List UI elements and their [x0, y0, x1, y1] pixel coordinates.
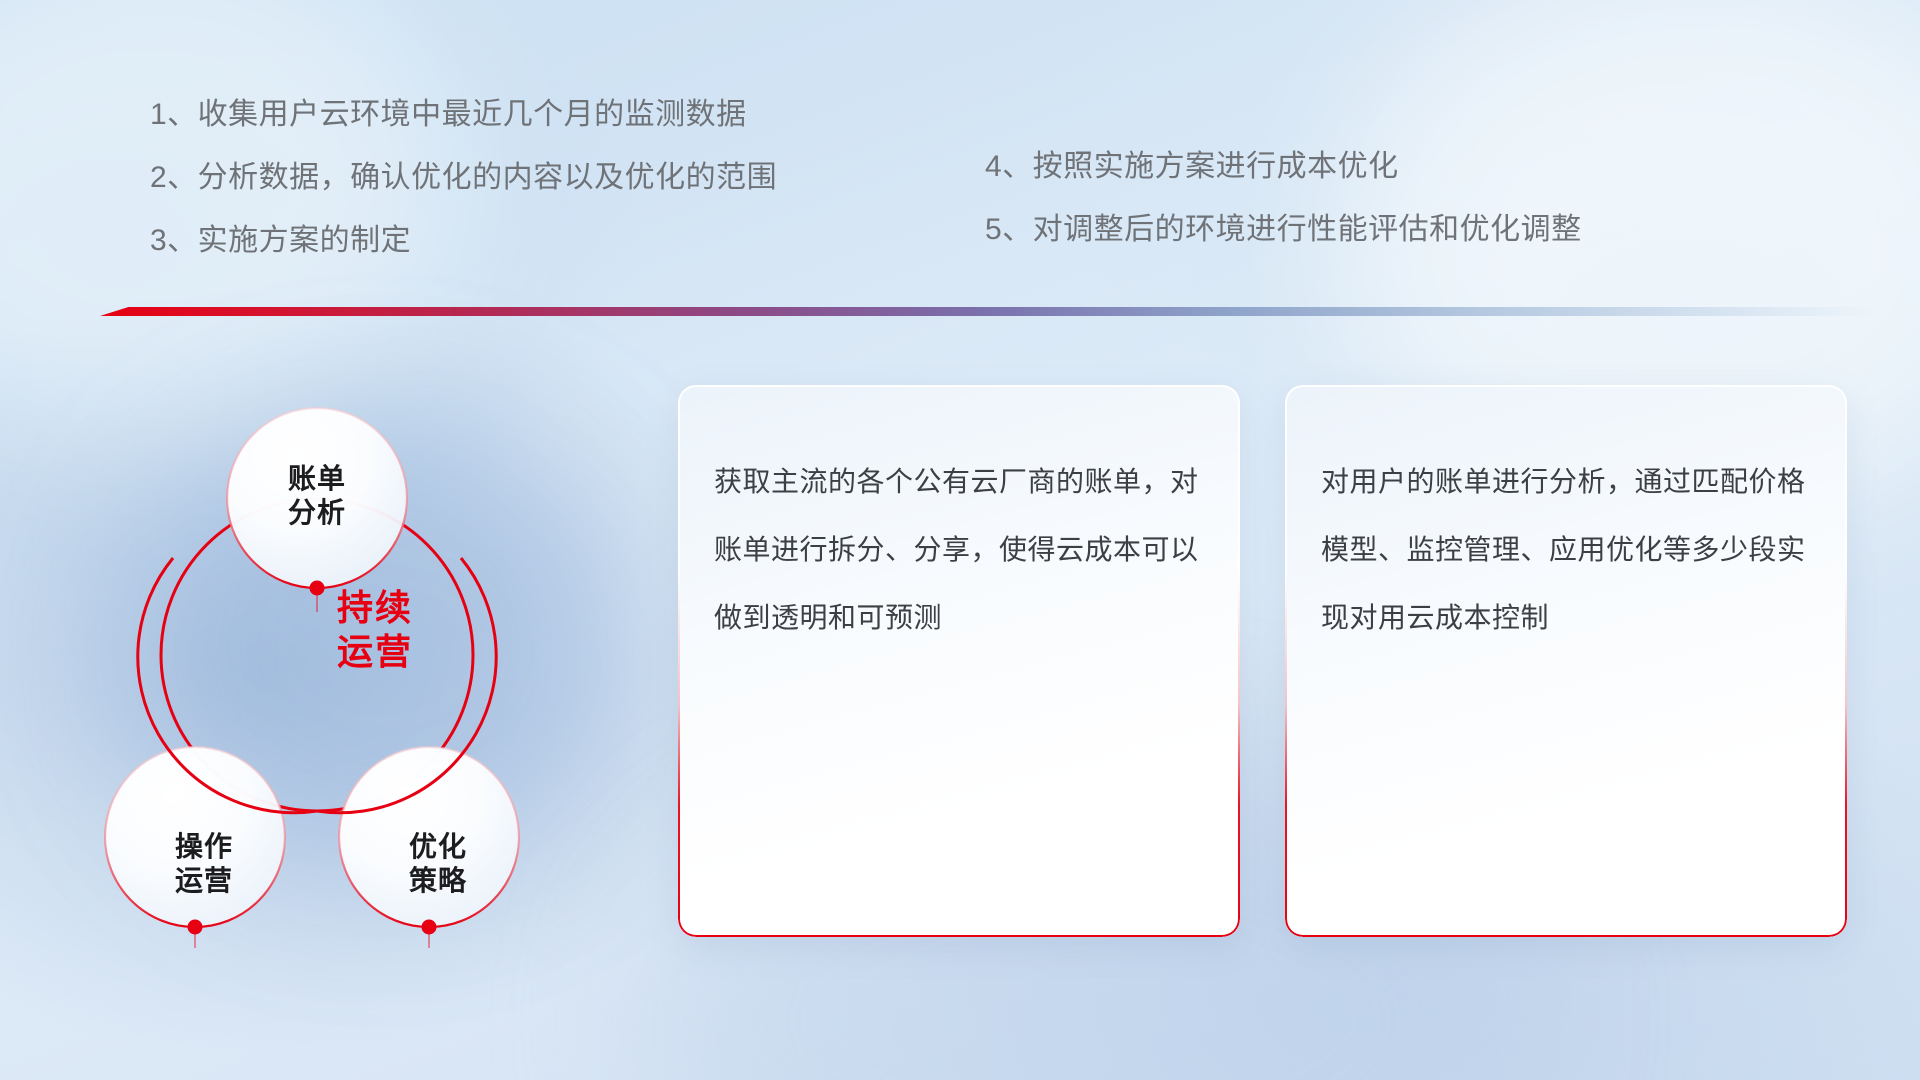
- feature-card-cloud-cost-optimization[interactable]: 对用户的账单进行分析，通过匹配价格模型、监控管理、应用优化等多少段实现对用云成本…: [1285, 385, 1847, 937]
- cycle-diagram: 账单 分析 操作 运营 优化 策略 持续 运营: [95, 350, 655, 950]
- bubble-operations: [105, 747, 285, 927]
- bubble-billing-analysis: [227, 408, 407, 588]
- section-divider: [100, 307, 1872, 316]
- slide-canvas: 1、收集用户云环境中最近几个月的监测数据 2、分析数据，确认优化的内容以及优化的…: [0, 0, 1920, 1080]
- card-body-text: 对用户的账单进行分析，通过匹配价格模型、监控管理、应用优化等多少段实现对用云成本…: [1321, 448, 1817, 651]
- cycle-diagram-svg: [95, 350, 655, 950]
- steps-list-left: 1、收集用户云环境中最近几个月的监测数据 2、分析数据，确认优化的内容以及优化的…: [150, 100, 870, 256]
- step-item-4: 4、按照实施方案进行成本优化: [985, 152, 1745, 182]
- step-item-5: 5、对调整后的环境进行性能评估和优化调整: [985, 215, 1745, 245]
- feature-card-multicloud-billing[interactable]: 获取主流的各个公有云厂商的账单，对账单进行拆分、分享，使得云成本可以做到透明和可…: [678, 385, 1240, 937]
- step-item-3: 3、实施方案的制定: [150, 226, 870, 256]
- card-body-text: 获取主流的各个公有云厂商的账单，对账单进行拆分、分享，使得云成本可以做到透明和可…: [714, 448, 1210, 651]
- steps-list-right: 4、按照实施方案进行成本优化 5、对调整后的环境进行性能评估和优化调整: [985, 152, 1745, 245]
- bubble-optimization-strategy: [339, 747, 519, 927]
- step-item-2: 2、分析数据，确认优化的内容以及优化的范围: [150, 163, 870, 193]
- step-item-1: 1、收集用户云环境中最近几个月的监测数据: [150, 100, 870, 130]
